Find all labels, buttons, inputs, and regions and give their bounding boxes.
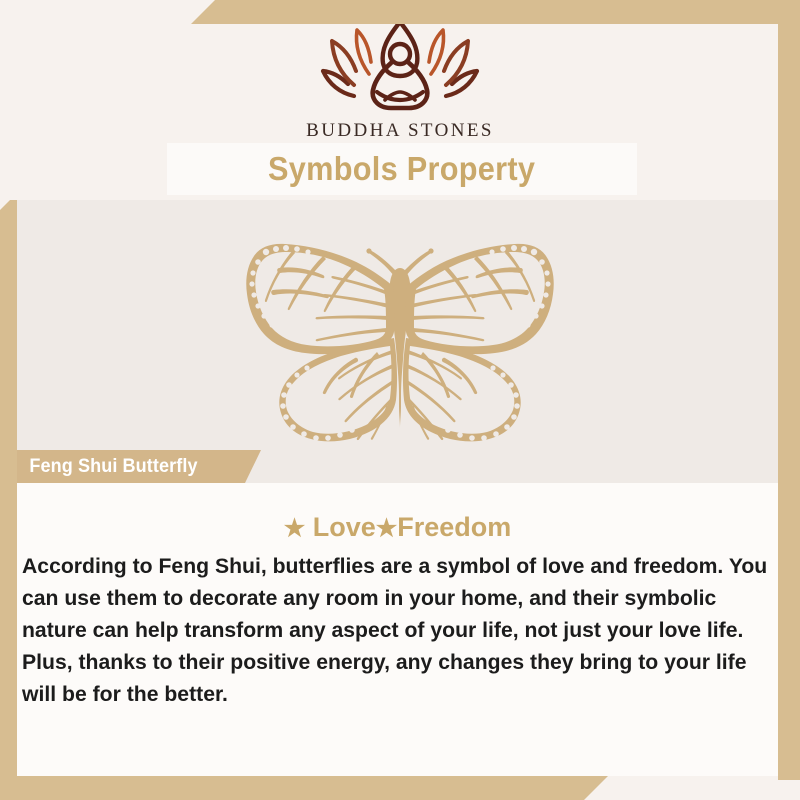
description-paragraph: According to Feng Shui, butterflies are …: [22, 550, 771, 710]
infographic-page: BUDDHA STONES Symbols Property: [0, 0, 800, 800]
subtitle-word-love: Love: [313, 512, 376, 542]
illustration-container: [0, 238, 800, 453]
banner-label: Feng Shui Butterfly: [17, 456, 198, 478]
brand-logo: BUDDHA STONES: [0, 18, 800, 142]
page-title: Symbols Property: [268, 150, 535, 188]
gold-frame-left: [0, 200, 17, 800]
star-icon-left: ★: [284, 515, 306, 542]
gold-frame-right: [778, 0, 800, 780]
gold-frame-bottom: [0, 776, 800, 800]
subtitle-word-freedom: Freedom: [397, 512, 511, 542]
subtitle-love-freedom: ★ Love★Freedom: [17, 512, 778, 543]
lotus-meditation-figure-icon: [307, 18, 493, 118]
star-icon-middle: ★: [376, 515, 398, 542]
brand-name: BUDDHA STONES: [0, 120, 800, 142]
monarch-butterfly-icon: [235, 238, 565, 448]
feng-shui-butterfly-banner: Feng Shui Butterfly: [17, 450, 261, 483]
page-title-card: Symbols Property: [167, 143, 637, 195]
